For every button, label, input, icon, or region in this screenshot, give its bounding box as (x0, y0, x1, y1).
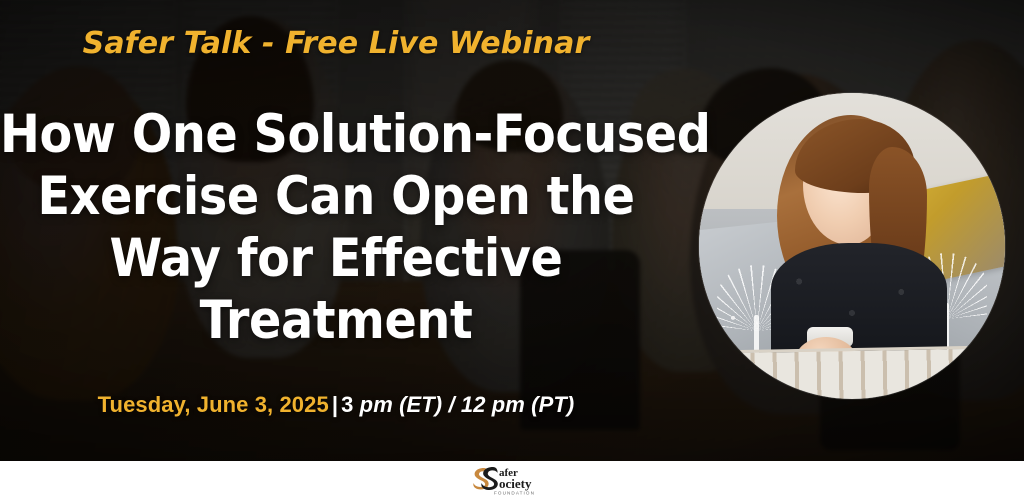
footer-bar: afer ociety FOUNDATION Safer Society FOU… (0, 461, 1024, 498)
speaker-portrait: Smiling woman with long auburn hair in a… (699, 93, 1005, 399)
webinar-promo-banner: Darkened photo of a group therapy circle… (0, 0, 1024, 498)
headline-line-4: Treatment (0, 290, 672, 352)
portrait-table (733, 346, 974, 399)
page-title: How One Solution-Focused Exercise Can Op… (0, 104, 672, 352)
logo-name-1: Safer (466, 496, 467, 497)
logo-subtitle-text: FOUNDATION (466, 496, 467, 497)
logo-subtitle: FOUNDATION (494, 490, 535, 495)
event-datetime: Tuesday, June 3, 2025|3 pm (ET) / 12 pm … (0, 392, 672, 418)
logo-icon: afer ociety FOUNDATION (466, 464, 558, 496)
event-time-zones: pm (ET) / 12 pm (PT) (360, 392, 575, 417)
event-time-number: 3 (341, 392, 353, 417)
safer-society-foundation-logo[interactable]: afer ociety FOUNDATION Safer Society FOU… (466, 464, 558, 496)
headline-line-2: Exercise Can Open the (0, 166, 672, 228)
headline-line-1: How One Solution-Focused (0, 104, 672, 166)
datetime-separator: | (329, 392, 341, 417)
event-date: Tuesday, June 3, 2025 (98, 392, 329, 417)
logo-name-line-2: ociety (499, 476, 532, 491)
headline-line-3: Way for Effective (0, 228, 672, 290)
banner-text-block: Safer Talk - Free Live Webinar How One S… (0, 0, 672, 461)
webinar-series-label: Safer Talk - Free Live Webinar (0, 26, 672, 61)
logo-name-2: Society (466, 496, 467, 497)
